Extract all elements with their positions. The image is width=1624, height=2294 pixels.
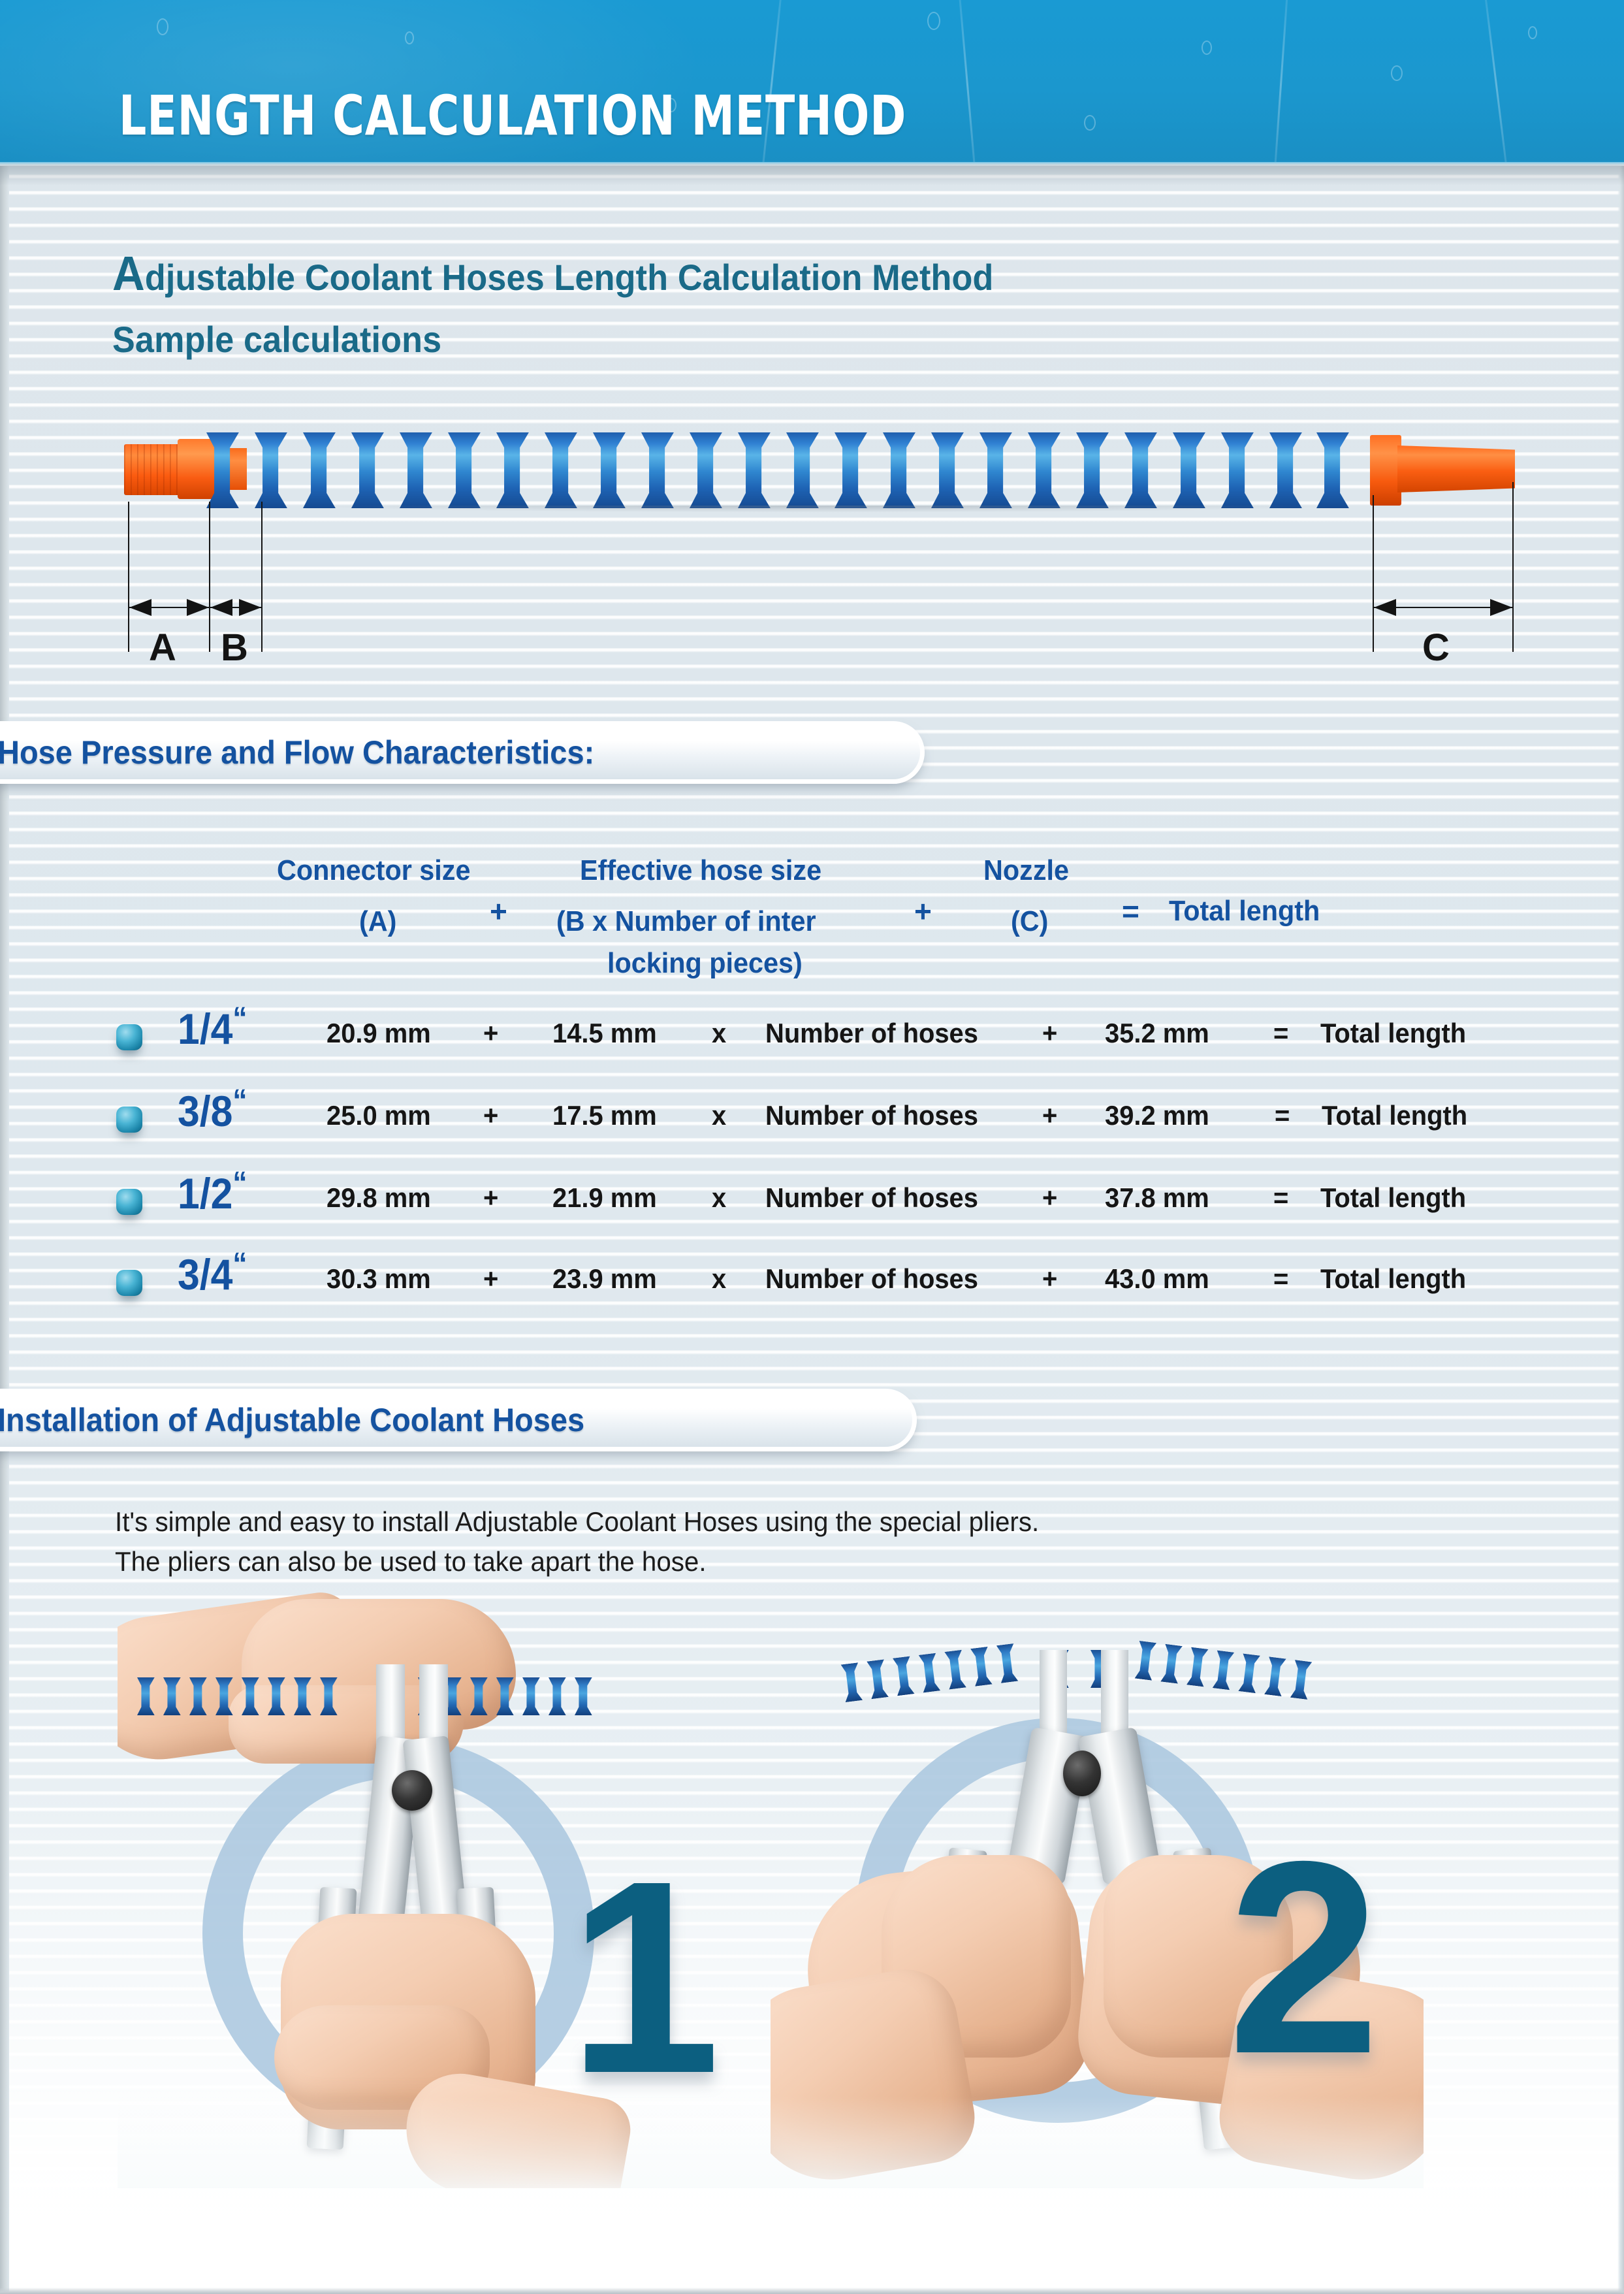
step-2-plier-jaw-left (1040, 1650, 1067, 1741)
row-bullet-icon (116, 1024, 142, 1050)
formula-header-total-length: Total length (1169, 895, 1320, 928)
hose-body (206, 432, 1375, 508)
row-connector-value: 20.9 mm (326, 1018, 431, 1049)
row-bullet-icon (116, 1107, 142, 1133)
row-bullet-icon (116, 1270, 142, 1296)
row-operator-multiply: x (712, 1018, 726, 1049)
hose-nozzle (1397, 445, 1515, 493)
row-operator-plus-2: + (1042, 1263, 1057, 1295)
row-total-label: Total length (1322, 1100, 1467, 1131)
row-size-label: 1/4“ (178, 1001, 247, 1054)
dimension-label-a: A (149, 626, 176, 670)
row-connector-value: 29.8 mm (326, 1182, 431, 1214)
step-1-plier-pivot (392, 1770, 432, 1811)
formula-header-nozzle: Nozzle (983, 854, 1069, 887)
step-2-number: 2 (1228, 1849, 1380, 2068)
formula-header-effective-ref-line-1: (B x Number of inter (556, 905, 816, 938)
formula-row: 1/2“ 29.8 mm + 21.9 mm x Number of hoses… (0, 1171, 1624, 1236)
section-banner-pressure-flow: Hose Pressure and Flow Characteristics: (0, 721, 925, 784)
extension-line-a-start (128, 502, 129, 652)
formula-row: 3/8“ 25.0 mm + 17.5 mm x Number of hoses… (0, 1088, 1624, 1154)
row-bullet-icon (116, 1189, 142, 1215)
row-total-label: Total length (1320, 1263, 1466, 1295)
dimension-label-b: B (221, 626, 248, 670)
row-operator-equals: = (1273, 1018, 1288, 1049)
header-bubble-icon (157, 18, 168, 35)
row-size-value: 3/4 (178, 1250, 232, 1299)
row-operator-plus-2: + (1042, 1018, 1057, 1049)
formula-header-connector-ref: (A) (359, 905, 396, 938)
header-streak (955, 0, 981, 162)
intro-heading-line-1-rest: djustable Coolant Hoses Length Calculati… (145, 257, 994, 298)
page-root: LENGTH CALCULATION METHOD Adjustable Coo… (0, 0, 1624, 2294)
section-banner-installation-label: Installation of Adjustable Coolant Hoses (0, 1401, 584, 1439)
row-size-value: 1/2 (178, 1169, 232, 1218)
row-total-label: Total length (1320, 1182, 1466, 1214)
step-2-plier-jaw-right (1101, 1650, 1128, 1741)
row-connector-value: 30.3 mm (326, 1263, 431, 1295)
hose-diagram: A B C (0, 423, 1624, 652)
row-hose-value: 23.9 mm (552, 1263, 657, 1295)
header-bubble-icon (405, 31, 414, 44)
page-bottom-edge (0, 2287, 1624, 2294)
extension-line-b-end (261, 502, 263, 652)
arrow-right-a-icon (187, 599, 209, 616)
row-hose-value: 21.9 mm (552, 1182, 657, 1214)
row-operator-multiply: x (712, 1182, 726, 1214)
intro-heading-line-2: Sample calculations (112, 318, 993, 361)
row-size-label: 3/8“ (178, 1083, 247, 1136)
formula-header-plus-1: + (490, 894, 507, 929)
header-shadow (0, 166, 1624, 186)
header-banner: LENGTH CALCULATION METHOD (0, 0, 1624, 162)
extension-line-c-start (1373, 495, 1374, 652)
formula-header-effective-ref-line-2: locking pieces) (607, 947, 803, 980)
row-operator-equals: = (1273, 1182, 1288, 1214)
row-multiplier-label: Number of hoses (765, 1100, 978, 1131)
row-size-quote: “ (232, 1084, 247, 1118)
intro-heading-line-1: Adjustable Coolant Hoses Length Calculat… (112, 256, 993, 299)
row-operator-equals: = (1275, 1100, 1290, 1131)
row-nozzle-value: 35.2 mm (1105, 1018, 1209, 1049)
arrow-left-c-icon (1374, 599, 1396, 616)
row-operator-plus-2: + (1042, 1182, 1057, 1214)
step-2-hose-right (1135, 1641, 1334, 1702)
hose-connector-thread (124, 444, 183, 495)
row-size-quote: “ (232, 1001, 247, 1036)
arrow-right-b-icon (239, 599, 261, 616)
header-bubble-icon (1084, 115, 1096, 131)
row-size-label: 1/2“ (178, 1165, 247, 1218)
row-operator-plus-1: + (483, 1100, 498, 1131)
row-size-value: 3/8 (178, 1087, 232, 1135)
row-operator-plus-1: + (483, 1182, 498, 1214)
step-2-hose-left (841, 1641, 1040, 1702)
section-banner-installation: Installation of Adjustable Coolant Hoses (0, 1389, 917, 1451)
header-streak (1270, 0, 1291, 162)
hose-drop-shadow (131, 506, 1515, 523)
dimension-label-c: C (1422, 626, 1450, 670)
row-operator-plus-1: + (483, 1263, 498, 1295)
formula-row: 3/4“ 30.3 mm + 23.9 mm x Number of hoses… (0, 1252, 1624, 1317)
installation-step-1-photo: 1 (118, 1587, 771, 2188)
extension-line-c-end (1512, 482, 1514, 652)
formula-header-plus-2: + (914, 894, 932, 929)
drop-cap: A (112, 246, 145, 300)
header-streak (1478, 0, 1514, 162)
step-2-plier-pivot (1063, 1751, 1101, 1796)
row-operator-multiply: x (712, 1263, 726, 1295)
formula-header-connector-size: Connector size (277, 854, 470, 887)
row-multiplier-label: Number of hoses (765, 1263, 978, 1295)
formula-row: 1/4“ 20.9 mm + 14.5 mm x Number of hoses… (0, 1006, 1624, 1071)
row-size-quote: “ (232, 1247, 247, 1282)
row-operator-plus-1: + (483, 1018, 498, 1049)
arrow-left-a-icon (129, 599, 151, 616)
arrow-left-b-icon (210, 599, 232, 616)
row-size-value: 1/4 (178, 1005, 232, 1053)
row-total-label: Total length (1320, 1018, 1466, 1049)
row-hose-value: 14.5 mm (552, 1018, 657, 1049)
step-1-hose (137, 1677, 614, 1715)
page-title: LENGTH CALCULATION METHOD (119, 84, 906, 148)
installation-step-2-photo: 2 (771, 1587, 1424, 2188)
step-1-fade (118, 2097, 771, 2188)
row-nozzle-value: 43.0 mm (1105, 1263, 1209, 1295)
row-operator-multiply: x (712, 1100, 726, 1131)
row-multiplier-label: Number of hoses (765, 1182, 978, 1214)
formula-header-equals: = (1122, 894, 1139, 929)
formula-header-nozzle-ref: (C) (1011, 905, 1048, 938)
row-size-quote: “ (232, 1166, 247, 1201)
formula-header-effective-hose-size: Effective hose size (580, 854, 821, 887)
header-bubble-icon (927, 12, 940, 30)
header-bubble-icon (1528, 26, 1537, 39)
row-size-label: 3/4“ (178, 1246, 247, 1299)
row-hose-value: 17.5 mm (552, 1100, 657, 1131)
extension-line-a-end (209, 502, 210, 652)
header-bubble-icon (1391, 65, 1403, 81)
row-nozzle-value: 39.2 mm (1105, 1100, 1209, 1131)
installation-line-2: The pliers can also be used to take apar… (115, 1542, 1039, 1582)
step-2-fade (771, 2097, 1424, 2188)
header-bubble-icon (1202, 40, 1212, 55)
formula-header-row: Connector size (A) + Effective hose size… (0, 843, 1624, 973)
arrow-right-c-icon (1490, 599, 1512, 616)
installation-line-1: It's simple and easy to install Adjustab… (115, 1502, 1039, 1542)
section-banner-pressure-flow-label: Hose Pressure and Flow Characteristics: (0, 734, 594, 771)
step-1-number: 1 (568, 1868, 721, 2088)
row-nozzle-value: 37.8 mm (1105, 1182, 1209, 1214)
row-operator-plus-2: + (1042, 1100, 1057, 1131)
installation-description: It's simple and easy to install Adjustab… (115, 1502, 1077, 1582)
row-operator-equals: = (1273, 1263, 1288, 1295)
hose-nozzle-base (1370, 435, 1401, 506)
row-multiplier-label: Number of hoses (765, 1018, 978, 1049)
row-connector-value: 25.0 mm (326, 1100, 431, 1131)
intro-heading-block: Adjustable Coolant Hoses Length Calculat… (112, 256, 1060, 361)
